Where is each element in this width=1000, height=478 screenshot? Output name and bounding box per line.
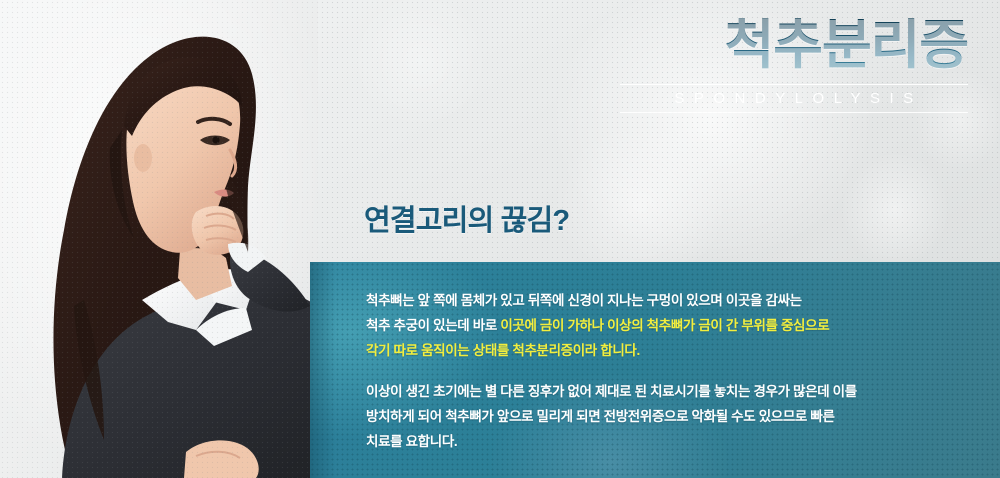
body-line: 각기 따로 움직이는 상태를 척추분리증이라 합니다.	[366, 338, 966, 363]
paragraph-warning: 이상이 생긴 초기에는 별 다른 징후가 없어 제대로 된 치료시기를 놓치는 …	[366, 379, 966, 454]
section-headline: 연결고리의 끊김?	[364, 197, 569, 239]
body-text: 척추 추궁이 있는데 바로	[366, 318, 500, 333]
body-text: 이상이 생긴 초기에는 별 다른 징후가 없어 제대로 된 치료시기를 놓치는 …	[366, 384, 857, 399]
subtitle-rule-group: SPONDYLOLYSIS	[620, 84, 968, 113]
highlighted-text: 이곳에 금이 가하나 이상의 척추뼈가 금이 간 부위를 중심으로	[500, 318, 829, 333]
photo-dot-texture	[0, 0, 318, 478]
title-block: 척추분리증 SPONDYLOLYSIS	[620, 18, 968, 113]
subtitle-latin: SPONDYLOLYSIS	[620, 85, 968, 112]
body-line: 방치하게 되어 척추뼈가 앞으로 밀리게 되면 전방전위증으로 악화될 수도 있…	[366, 404, 966, 429]
teal-panel-left-shadow	[310, 262, 336, 478]
body-text: 방치하게 되어 척추뼈가 앞으로 밀리게 되면 전방전위증으로 악화될 수도 있…	[366, 409, 835, 424]
body-copy: 척추뼈는 앞 쪽에 몸체가 있고 뒤쪽에 신경이 지나는 구멍이 있으며 이곳을…	[366, 288, 966, 454]
body-line: 이상이 생긴 초기에는 별 다른 징후가 없어 제대로 된 치료시기를 놓치는 …	[366, 379, 966, 404]
body-text: 척추뼈는 앞 쪽에 몸체가 있고 뒤쪽에 신경이 지나는 구멍이 있으며 이곳을…	[366, 293, 802, 308]
subtitle-rule-bottom	[620, 112, 968, 113]
body-line: 척추 추궁이 있는데 바로 이곳에 금이 가하나 이상의 척추뼈가 금이 간 부…	[366, 313, 966, 338]
paragraph-definition: 척추뼈는 앞 쪽에 몸체가 있고 뒤쪽에 신경이 지나는 구멍이 있으며 이곳을…	[366, 288, 966, 363]
body-line: 치료를 요합니다.	[366, 429, 966, 454]
businesswoman-photo	[0, 0, 318, 478]
spondylolysis-banner: 척추분리증 SPONDYLOLYSIS 연결고리의 끊김? 척추뼈는 앞 쪽에 …	[0, 0, 1000, 478]
body-text: 치료를 요합니다.	[366, 434, 457, 449]
highlighted-text: 각기 따로 움직이는 상태를 척추분리증이라 합니다.	[366, 343, 640, 358]
page-title: 척추분리증	[620, 18, 968, 72]
body-line: 척추뼈는 앞 쪽에 몸체가 있고 뒤쪽에 신경이 지나는 구멍이 있으며 이곳을…	[366, 288, 966, 313]
